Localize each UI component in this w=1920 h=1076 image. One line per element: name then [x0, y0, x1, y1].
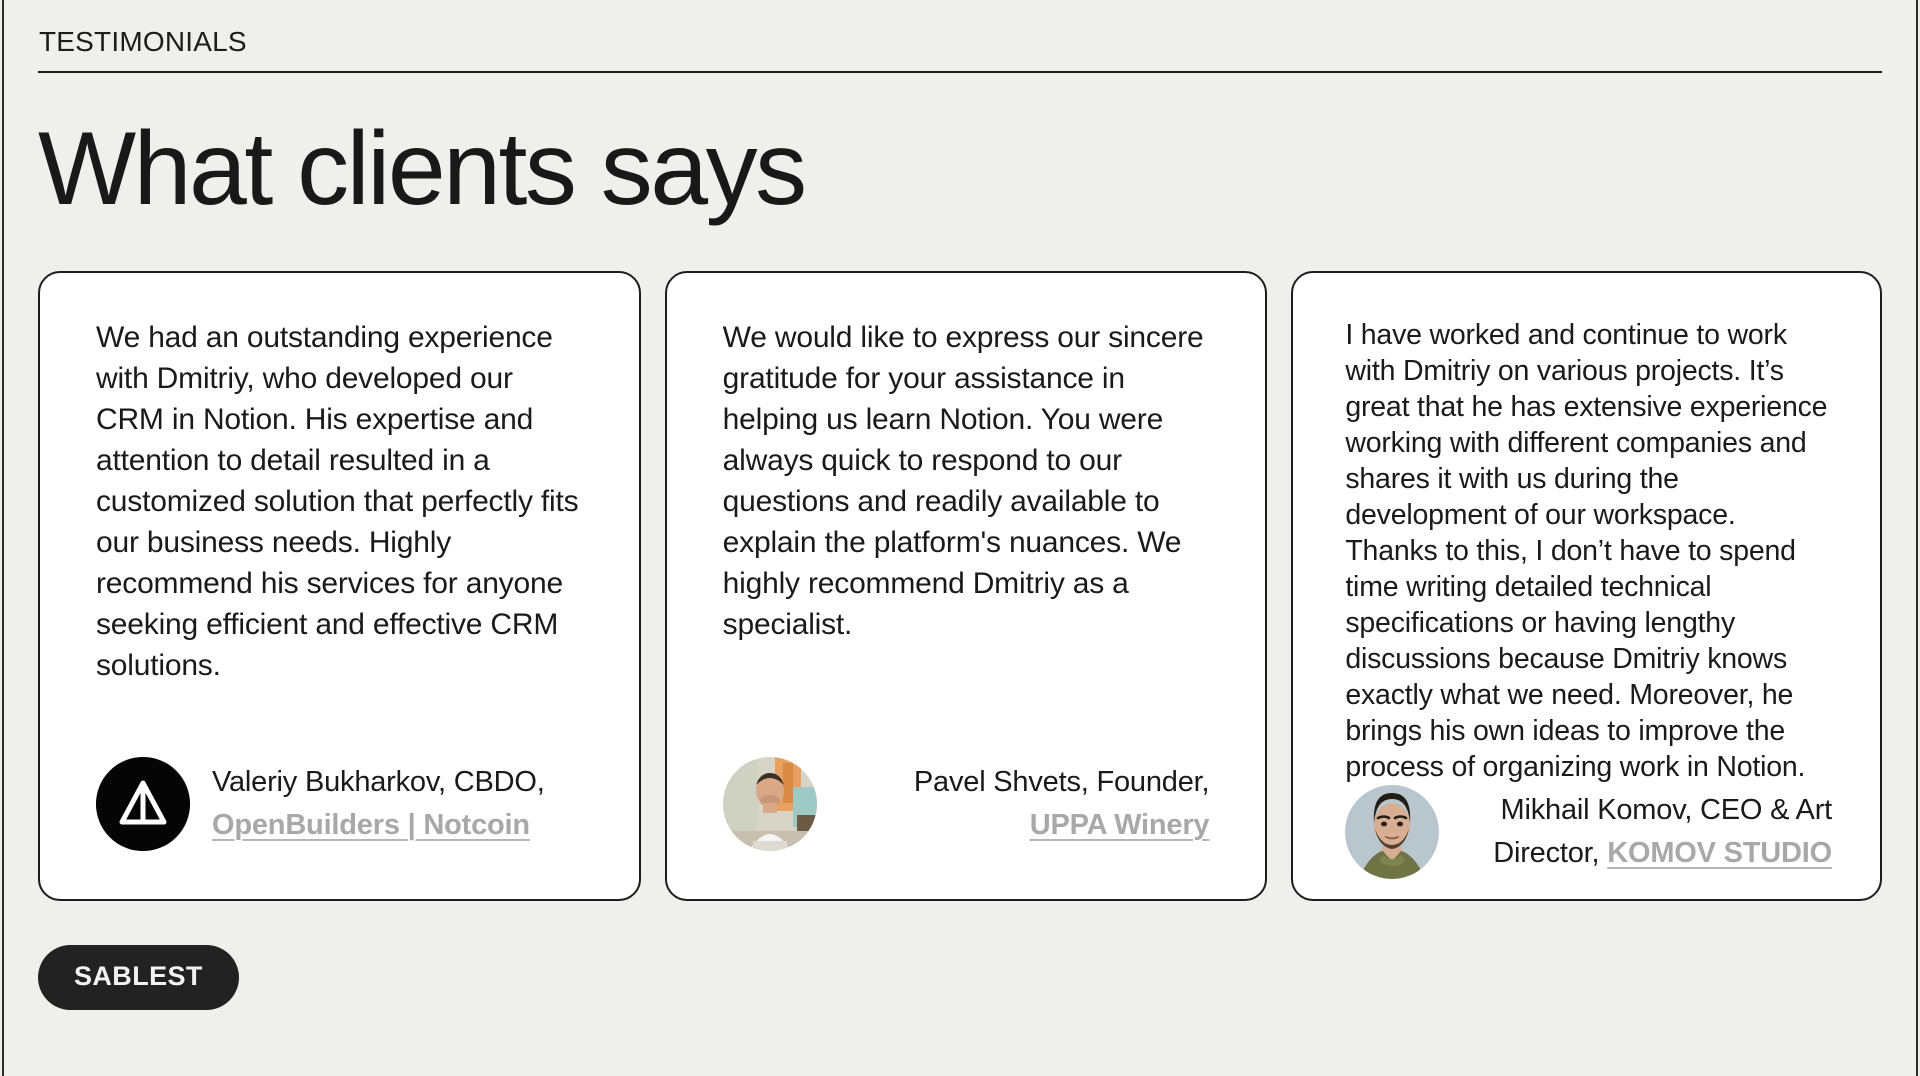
brand-badge[interactable]: SABLEST [38, 945, 239, 1010]
avatar-pavel-shvets [723, 757, 817, 851]
section-header: TESTIMONIALS [38, 0, 1882, 73]
author-company-link[interactable]: KOMOV STUDIO [1607, 837, 1832, 869]
testimonial-quote: We would like to express our sincere gra… [723, 317, 1210, 645]
avatar-openbuilders-logo [96, 757, 190, 851]
testimonial-quote: We had an outstanding experience with Dm… [96, 317, 583, 686]
author-credit: Mikhail Komov, CEO & Art Director, KOMOV… [1461, 789, 1832, 875]
testimonial-author: Valeriy Bukharkov, CBDO, OpenBuilders | … [96, 757, 583, 863]
author-company-link[interactable]: OpenBuilders | Notcoin [212, 809, 530, 841]
author-company-link[interactable]: UPPA Winery [1030, 809, 1210, 841]
testimonial-author: Pavel Shvets, Founder, UPPA Winery [723, 757, 1210, 863]
testimonial-card: We had an outstanding experience with Dm… [38, 271, 641, 901]
section-eyebrow: TESTIMONIALS [38, 25, 1882, 59]
testimonial-quote: I have worked and continue to work with … [1345, 317, 1832, 785]
page-border-right [1916, 0, 1918, 1076]
author-credit: Pavel Shvets, Founder, UPPA Winery [839, 761, 1210, 847]
testimonial-author: Mikhail Komov, CEO & Art Director, KOMOV… [1345, 785, 1832, 891]
page-title: What clients says [38, 115, 1882, 223]
section-divider [38, 71, 1882, 73]
testimonial-card: We would like to express our sincere gra… [665, 271, 1268, 901]
author-name: Pavel Shvets, Founder, [914, 766, 1209, 798]
testimonial-card-list: We had an outstanding experience with Dm… [38, 271, 1882, 901]
footer: SABLEST [38, 945, 1882, 1010]
testimonials-section: TESTIMONIALS What clients says We had an… [0, 0, 1920, 1076]
avatar-mikhail-komov [1345, 785, 1439, 879]
author-name: Valeriy Bukharkov, CBDO, [212, 766, 545, 798]
page-border-left [2, 0, 4, 1076]
testimonial-card: I have worked and continue to work with … [1291, 271, 1882, 901]
author-credit: Valeriy Bukharkov, CBDO, OpenBuilders | … [212, 761, 583, 847]
